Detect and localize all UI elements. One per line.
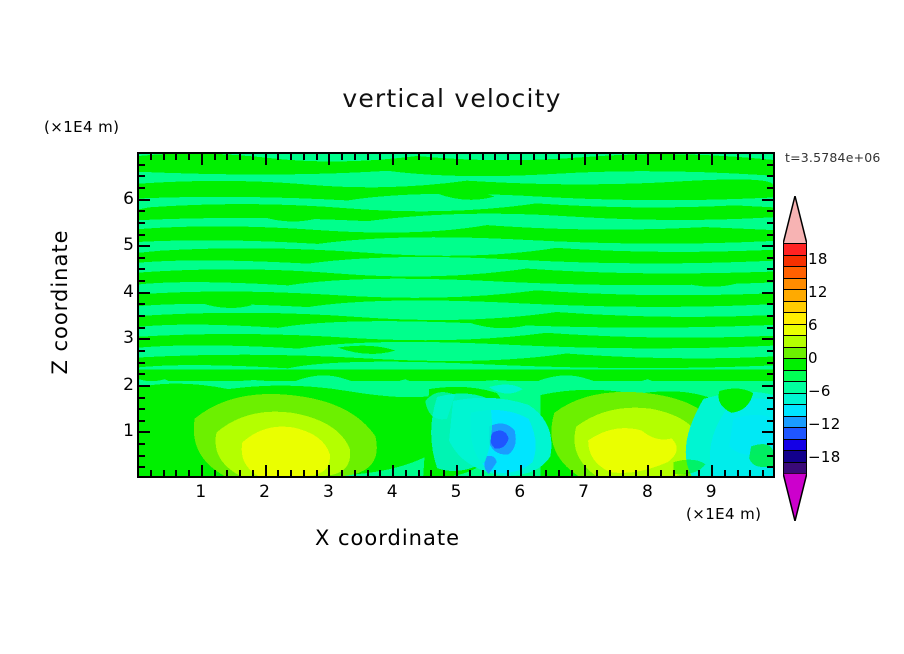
y-tick-minor-right bbox=[767, 280, 773, 282]
y-tick-minor-right bbox=[767, 175, 773, 177]
y-tick-minor-right bbox=[767, 362, 773, 364]
x-tick-minor-top bbox=[571, 154, 573, 160]
colorbar-over-arrow bbox=[783, 196, 807, 244]
x-tick-minor-top bbox=[494, 154, 496, 160]
x-tick-major bbox=[520, 465, 522, 476]
colorbar-band bbox=[784, 325, 806, 337]
colorbar-band bbox=[784, 313, 806, 325]
x-tick-major bbox=[328, 465, 330, 476]
y-tick-minor bbox=[139, 455, 145, 457]
colorbar-band bbox=[784, 279, 806, 291]
x-tick-minor-top bbox=[163, 154, 165, 160]
colorbar-band bbox=[784, 394, 806, 406]
x-tick-major bbox=[647, 465, 649, 476]
x-tick-minor-top bbox=[469, 154, 471, 160]
y-tick-minor bbox=[139, 350, 145, 352]
x-tick-minor-top bbox=[609, 154, 611, 160]
x-tick-minor bbox=[277, 470, 279, 476]
x-tick-major bbox=[711, 465, 713, 476]
y-tick-major-right bbox=[762, 431, 773, 433]
x-tick-minor bbox=[635, 470, 637, 476]
colorbar-band bbox=[784, 359, 806, 371]
y-tick-major bbox=[139, 199, 150, 201]
colorbar-tick-label: −12 bbox=[808, 415, 841, 433]
colorbar-tick-label: 0 bbox=[808, 349, 818, 367]
x-tick-minor bbox=[252, 470, 254, 476]
x-tick-minor bbox=[724, 470, 726, 476]
colorbar-tick-label: 18 bbox=[808, 250, 828, 268]
x-tick-minor-top bbox=[507, 154, 509, 160]
y-tick-minor-right bbox=[767, 303, 773, 305]
colorbar-band bbox=[784, 382, 806, 394]
colorbar-band bbox=[784, 428, 806, 440]
x-tick-minor bbox=[698, 470, 700, 476]
colorbar-band bbox=[784, 302, 806, 314]
x-tick-label: 6 bbox=[514, 482, 525, 502]
x-tick-minor-top bbox=[724, 154, 726, 160]
x-tick-minor bbox=[749, 470, 751, 476]
colorbar-band bbox=[784, 371, 806, 383]
y-tick-minor bbox=[139, 397, 145, 399]
x-tick-major-top bbox=[456, 154, 458, 165]
x-tick-minor-top bbox=[418, 154, 420, 160]
y-tick-minor bbox=[139, 210, 145, 212]
x-tick-minor bbox=[430, 470, 432, 476]
x-tick-major-top bbox=[201, 154, 203, 165]
x-tick-minor bbox=[660, 470, 662, 476]
x-tick-minor bbox=[379, 470, 381, 476]
x-tick-minor bbox=[239, 470, 241, 476]
timestamp-label: t=3.5784e+06 bbox=[785, 150, 881, 165]
x-tick-minor-top bbox=[341, 154, 343, 160]
colorbar-band bbox=[784, 348, 806, 360]
x-tick-minor-top bbox=[226, 154, 228, 160]
y-tick-major-right bbox=[762, 385, 773, 387]
x-tick-minor bbox=[188, 470, 190, 476]
x-tick-minor-top bbox=[622, 154, 624, 160]
vertical-velocity-field bbox=[139, 154, 773, 476]
y-tick-major bbox=[139, 245, 150, 247]
y-tick-minor-right bbox=[767, 466, 773, 468]
x-tick-minor bbox=[354, 470, 356, 476]
x-tick-label: 4 bbox=[387, 482, 398, 502]
y-tick-minor-right bbox=[767, 210, 773, 212]
colorbar-band bbox=[784, 405, 806, 417]
x-tick-minor-top bbox=[316, 154, 318, 160]
x-tick-label: 7 bbox=[578, 482, 589, 502]
colorbar-band bbox=[784, 256, 806, 268]
colorbar-under-arrow bbox=[783, 473, 807, 521]
x-tick-major bbox=[456, 465, 458, 476]
y-tick-minor bbox=[139, 303, 145, 305]
x-tick-minor bbox=[150, 470, 152, 476]
y-tick-minor bbox=[139, 234, 145, 236]
x-tick-major bbox=[392, 465, 394, 476]
y-tick-label: 6 bbox=[112, 189, 134, 209]
x-tick-minor bbox=[558, 470, 560, 476]
y-tick-minor-right bbox=[767, 187, 773, 189]
x-tick-minor-top bbox=[303, 154, 305, 160]
x-tick-minor-top bbox=[214, 154, 216, 160]
x-tick-minor bbox=[609, 470, 611, 476]
colorbar-band bbox=[784, 417, 806, 429]
y-tick-minor-right bbox=[767, 443, 773, 445]
y-tick-major bbox=[139, 431, 150, 433]
y-tick-label: 1 bbox=[112, 421, 134, 441]
colorbar-bands bbox=[783, 243, 807, 473]
x-tick-label: 5 bbox=[451, 482, 462, 502]
y-tick-minor bbox=[139, 362, 145, 364]
y-tick-minor bbox=[139, 315, 145, 317]
x-tick-minor-top bbox=[596, 154, 598, 160]
x-tick-minor-top bbox=[545, 154, 547, 160]
x-tick-minor bbox=[507, 470, 509, 476]
x-tick-minor-top bbox=[660, 154, 662, 160]
x-tick-minor bbox=[737, 470, 739, 476]
x-tick-minor-top bbox=[405, 154, 407, 160]
x-tick-label: 9 bbox=[706, 482, 717, 502]
x-tick-minor bbox=[341, 470, 343, 476]
colorbar-band bbox=[784, 336, 806, 348]
x-tick-minor-top bbox=[698, 154, 700, 160]
x-tick-minor-top bbox=[379, 154, 381, 160]
y-tick-minor bbox=[139, 257, 145, 259]
y-tick-minor-right bbox=[767, 222, 773, 224]
x-tick-minor-top bbox=[175, 154, 177, 160]
y-tick-minor bbox=[139, 175, 145, 177]
x-tick-major bbox=[201, 465, 203, 476]
x-tick-minor-top bbox=[686, 154, 688, 160]
x-axis-label: X coordinate bbox=[0, 526, 775, 550]
y-tick-minor bbox=[139, 408, 145, 410]
x-tick-minor-top bbox=[762, 154, 764, 160]
y-tick-minor bbox=[139, 327, 145, 329]
y-tick-minor-right bbox=[767, 420, 773, 422]
x-tick-minor bbox=[163, 470, 165, 476]
x-tick-minor bbox=[316, 470, 318, 476]
x-tick-minor-top bbox=[749, 154, 751, 160]
y-tick-minor-right bbox=[767, 373, 773, 375]
y-tick-minor bbox=[139, 443, 145, 445]
x-tick-minor bbox=[443, 470, 445, 476]
x-tick-minor bbox=[545, 470, 547, 476]
x-tick-minor bbox=[290, 470, 292, 476]
y-tick-minor-right bbox=[767, 315, 773, 317]
x-tick-minor-top bbox=[277, 154, 279, 160]
x-tick-minor bbox=[596, 470, 598, 476]
x-tick-label: 2 bbox=[259, 482, 270, 502]
colorbar-band bbox=[784, 244, 806, 256]
x-tick-label: 8 bbox=[642, 482, 653, 502]
x-tick-minor bbox=[469, 470, 471, 476]
y-tick-major-right bbox=[762, 245, 773, 247]
x-tick-label: 3 bbox=[323, 482, 334, 502]
x-tick-minor-top bbox=[239, 154, 241, 160]
x-tick-minor bbox=[571, 470, 573, 476]
y-tick-label: 4 bbox=[112, 282, 134, 302]
x-tick-minor-top bbox=[737, 154, 739, 160]
y-tick-minor-right bbox=[767, 257, 773, 259]
y-tick-major-right bbox=[762, 338, 773, 340]
colorbar-tick-label: 12 bbox=[808, 283, 828, 301]
y-tick-minor-right bbox=[767, 397, 773, 399]
x-tick-minor bbox=[418, 470, 420, 476]
x-tick-minor-top bbox=[558, 154, 560, 160]
x-tick-minor bbox=[405, 470, 407, 476]
x-tick-major-top bbox=[711, 154, 713, 165]
x-tick-major-top bbox=[392, 154, 394, 165]
y-tick-major bbox=[139, 338, 150, 340]
y-tick-minor bbox=[139, 280, 145, 282]
x-tick-minor bbox=[622, 470, 624, 476]
y-tick-minor bbox=[139, 187, 145, 189]
y-tick-minor bbox=[139, 164, 145, 166]
x-tick-minor-top bbox=[533, 154, 535, 160]
y-tick-minor bbox=[139, 268, 145, 270]
x-tick-minor bbox=[226, 470, 228, 476]
x-tick-minor bbox=[175, 470, 177, 476]
x-tick-minor-top bbox=[673, 154, 675, 160]
x-tick-major-top bbox=[328, 154, 330, 165]
x-tick-minor-top bbox=[430, 154, 432, 160]
x-tick-major bbox=[584, 465, 586, 476]
x-tick-minor-top bbox=[482, 154, 484, 160]
y-axis-label: Z coordinate bbox=[48, 222, 72, 382]
colorbar: 181260−6−12−18 bbox=[780, 196, 810, 520]
x-tick-major-top bbox=[265, 154, 267, 165]
x-tick-minor-top bbox=[635, 154, 637, 160]
colorbar-tick-label: −6 bbox=[808, 382, 831, 400]
contour-plot-area bbox=[137, 152, 775, 478]
colorbar-band bbox=[784, 440, 806, 452]
y-tick-minor-right bbox=[767, 350, 773, 352]
x-tick-minor-top bbox=[443, 154, 445, 160]
x-tick-major bbox=[265, 465, 267, 476]
y-tick-major-right bbox=[762, 199, 773, 201]
y-tick-major bbox=[139, 385, 150, 387]
x-tick-major-top bbox=[584, 154, 586, 165]
colorbar-band bbox=[784, 267, 806, 279]
y-tick-label: 2 bbox=[112, 375, 134, 395]
y-tick-label: 3 bbox=[112, 328, 134, 348]
x-tick-minor bbox=[482, 470, 484, 476]
x-tick-major-top bbox=[520, 154, 522, 165]
y-tick-minor-right bbox=[767, 408, 773, 410]
y-tick-label: 5 bbox=[112, 235, 134, 255]
colorbar-tick-label: 6 bbox=[808, 316, 818, 334]
y-tick-minor-right bbox=[767, 268, 773, 270]
y-tick-minor bbox=[139, 420, 145, 422]
x-tick-minor-top bbox=[188, 154, 190, 160]
x-tick-minor-top bbox=[290, 154, 292, 160]
x-tick-minor bbox=[367, 470, 369, 476]
x-axis-unit: (×1E4 m) bbox=[686, 505, 761, 523]
x-tick-minor-top bbox=[252, 154, 254, 160]
y-tick-major-right bbox=[762, 292, 773, 294]
colorbar-tick-label: −18 bbox=[808, 448, 841, 466]
x-tick-minor-top bbox=[354, 154, 356, 160]
y-tick-minor bbox=[139, 466, 145, 468]
x-tick-label: 1 bbox=[195, 482, 206, 502]
y-tick-minor bbox=[139, 222, 145, 224]
x-tick-major-top bbox=[647, 154, 649, 165]
x-tick-minor bbox=[214, 470, 216, 476]
y-tick-minor-right bbox=[767, 455, 773, 457]
x-tick-minor bbox=[686, 470, 688, 476]
x-tick-minor bbox=[494, 470, 496, 476]
y-tick-minor bbox=[139, 373, 145, 375]
y-tick-minor-right bbox=[767, 234, 773, 236]
x-tick-minor bbox=[673, 470, 675, 476]
page-title: vertical velocity bbox=[0, 84, 904, 113]
y-tick-minor-right bbox=[767, 327, 773, 329]
y-tick-minor-right bbox=[767, 164, 773, 166]
x-tick-minor-top bbox=[367, 154, 369, 160]
x-tick-minor bbox=[303, 470, 305, 476]
colorbar-band bbox=[784, 451, 806, 463]
x-tick-minor bbox=[533, 470, 535, 476]
x-tick-minor-top bbox=[150, 154, 152, 160]
y-tick-major bbox=[139, 292, 150, 294]
x-tick-minor bbox=[762, 470, 764, 476]
colorbar-band bbox=[784, 290, 806, 302]
y-axis-unit: (×1E4 m) bbox=[44, 118, 119, 136]
